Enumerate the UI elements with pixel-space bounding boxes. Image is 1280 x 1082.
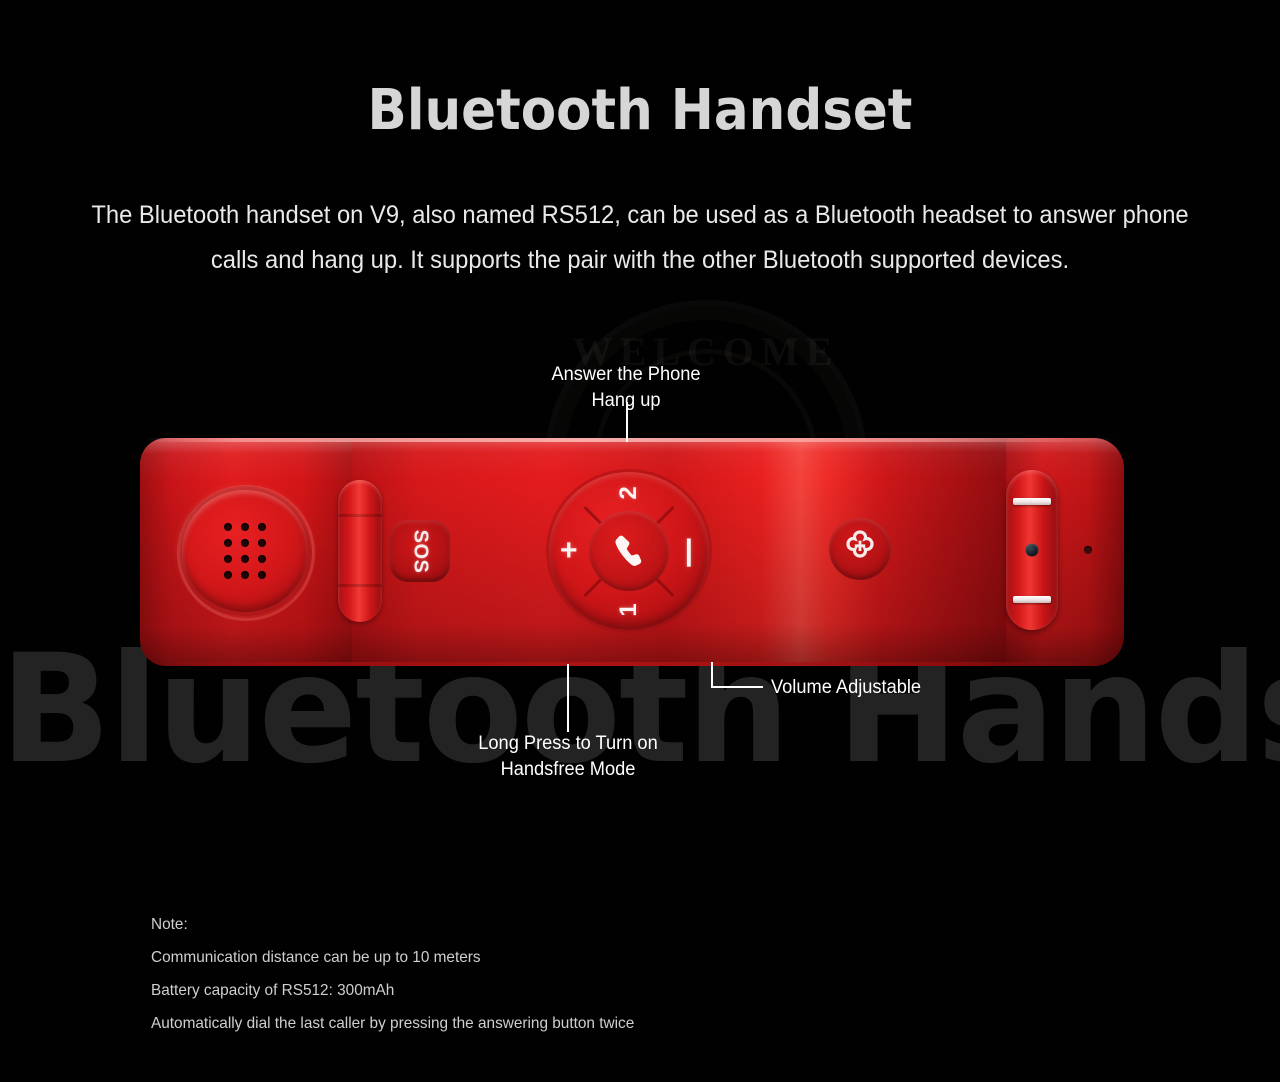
note-item: Battery capacity of RS512: 300mAh	[151, 974, 919, 1007]
callout-handsfree-leader	[567, 664, 569, 732]
callout-volume-leader-horizontal	[711, 686, 763, 688]
device-top-highlight	[146, 438, 1118, 442]
navpad-label-top: 2	[615, 486, 643, 499]
earpiece-speaker	[182, 490, 308, 612]
answer-call-button[interactable]	[589, 511, 669, 591]
note-item: Communication distance can be up to 10 m…	[151, 941, 919, 974]
note-item: Automatically dial the last caller by pr…	[151, 1007, 919, 1040]
phone-handset-icon	[609, 531, 650, 572]
notes-heading: Note:	[151, 908, 919, 941]
navpad-label-bottom: 1	[615, 603, 643, 616]
pill-band-bottom	[338, 584, 382, 587]
navpad-label-right: |	[685, 538, 693, 564]
device-bottom-shadow	[154, 662, 1110, 666]
navigation-pad[interactable]: 2 1 + |	[549, 472, 709, 630]
volume-up-bar[interactable]	[1013, 498, 1051, 505]
pill-band-top	[338, 514, 382, 517]
function-clover-button[interactable]	[829, 518, 891, 580]
volume-rocker-button[interactable]	[1006, 470, 1058, 630]
sos-button-label: SOS	[409, 529, 432, 573]
page-description: The Bluetooth handset on V9, also named …	[70, 193, 1210, 283]
page-title: Bluetooth Handset	[51, 78, 1229, 143]
microphone-pinhole-icon	[1084, 546, 1092, 554]
rocker-center-dot	[1026, 544, 1039, 557]
callout-volume-leader-vertical	[711, 662, 713, 688]
volume-down-bar[interactable]	[1013, 596, 1051, 603]
device-side-pill	[338, 480, 382, 622]
callout-handsfree-label: Long Press to Turn on Handsfree Mode	[474, 731, 662, 783]
clover-cross-icon	[840, 529, 880, 569]
callout-answer-hangup-leader	[626, 402, 628, 442]
sos-button[interactable]: SOS	[390, 520, 450, 582]
handset-device-image: SOS 2 1 + |	[140, 438, 1124, 666]
speaker-holes	[220, 520, 270, 582]
callout-volume-label: Volume Adjustable	[771, 675, 921, 701]
navpad-label-left: +	[560, 538, 578, 564]
notes-section: Note: Communication distance can be up t…	[151, 908, 919, 1040]
